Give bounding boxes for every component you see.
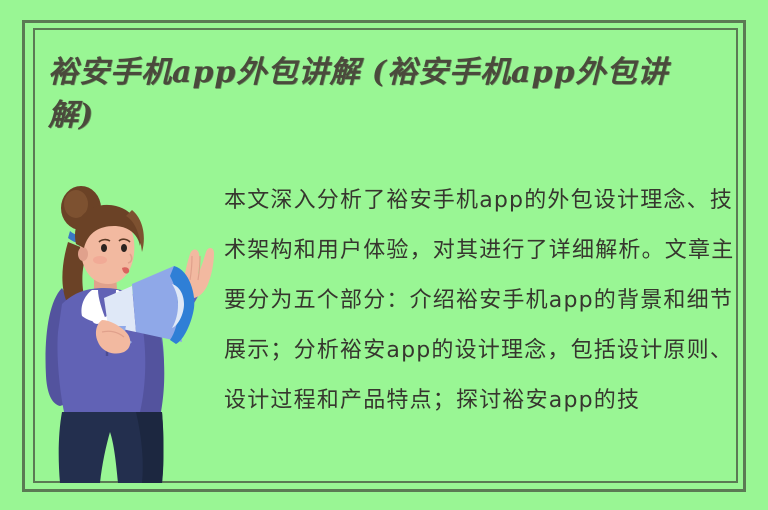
illustration-woman-with-megaphone — [40, 180, 220, 483]
collar-scallop-1 — [82, 308, 92, 318]
cheek-blush — [93, 256, 107, 264]
ear — [78, 247, 88, 261]
eye-right — [121, 244, 127, 252]
eye-left — [101, 244, 107, 252]
page-title: 裕安手机app外包讲解 (裕安手机app外包讲解) — [48, 52, 708, 137]
poster-canvas: 裕安手机app外包讲解 (裕安手机app外包讲解) — [0, 0, 768, 510]
woman-with-megaphone-graphic — [40, 180, 220, 483]
body-paragraph: 本文深入分析了裕安手机app的外包设计理念、技术架构和用户体验，对其进行了详细解… — [224, 176, 737, 426]
body-text-container: 本文深入分析了裕安手机app的外包设计理念、技术架构和用户体验，对其进行了详细解… — [224, 176, 737, 481]
